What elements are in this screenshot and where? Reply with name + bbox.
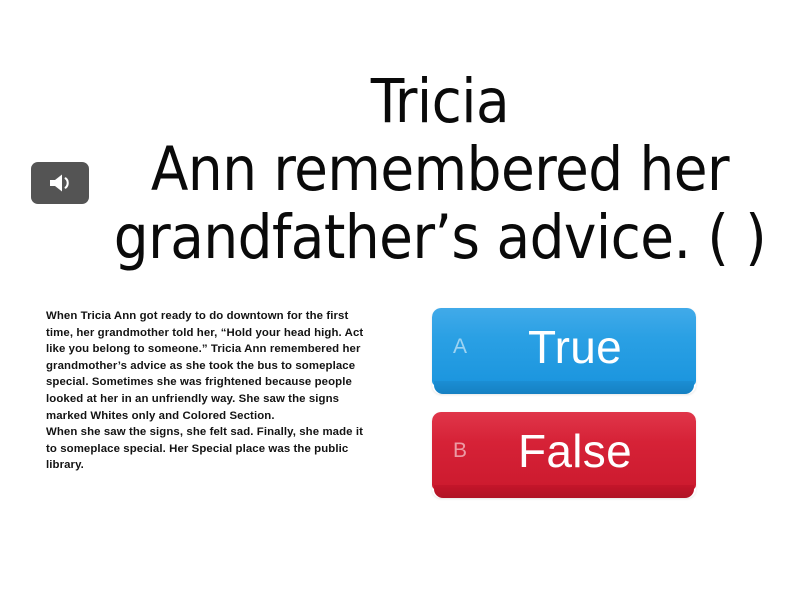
answer-label-true: True bbox=[488, 323, 696, 371]
question-block: Tricia Ann remembered her grandfather’s … bbox=[90, 68, 790, 272]
answer-option-true[interactable]: A True bbox=[432, 308, 696, 394]
answer-label-false: False bbox=[488, 427, 696, 475]
question-title: Tricia Ann remembered her grandfather’s … bbox=[90, 68, 790, 272]
answer-options: A True B False bbox=[432, 308, 696, 498]
speaker-icon bbox=[47, 172, 73, 194]
reading-passage: When Tricia Ann got ready to do downtown… bbox=[46, 308, 371, 474]
audio-play-button[interactable] bbox=[31, 162, 89, 204]
answer-bottom-edge bbox=[434, 381, 694, 394]
answer-letter-a: A bbox=[432, 335, 488, 359]
answer-letter-b: B bbox=[432, 439, 488, 463]
answer-option-false[interactable]: B False bbox=[432, 412, 696, 498]
answer-bottom-edge bbox=[434, 485, 694, 498]
